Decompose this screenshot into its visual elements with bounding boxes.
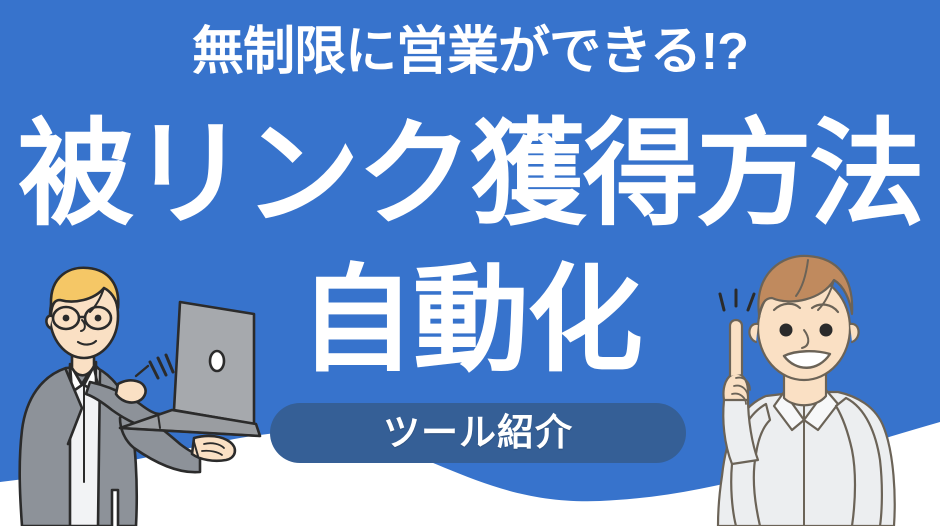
badge-label: ツール紹介 <box>383 413 573 453</box>
illustration-man-with-laptop <box>8 258 268 526</box>
illustration-man-pointing-up <box>680 248 940 526</box>
promo-banner: 無制限に営業ができる!? 被リンク獲得方法 自動化 ツール紹介 <box>0 0 940 526</box>
tool-intro-badge[interactable]: ツール紹介 <box>270 403 686 463</box>
